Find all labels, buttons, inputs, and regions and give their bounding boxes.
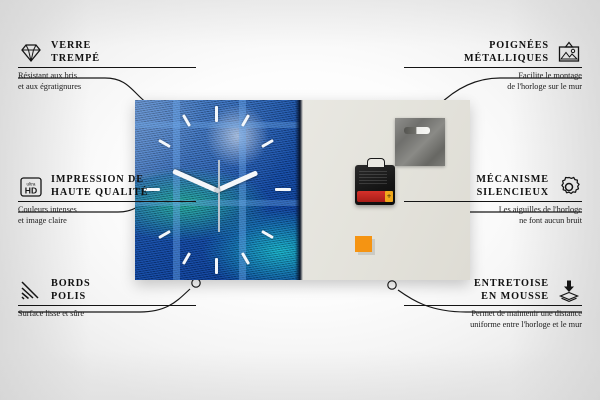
- hour-tick: [215, 258, 218, 274]
- callout-description: Permet de maintenir une distance uniform…: [404, 309, 582, 330]
- callout-rule: [404, 305, 582, 306]
- hour-tick: [158, 230, 171, 239]
- callout-header: VERRE TREMPÉ: [18, 40, 196, 65]
- callout-header: ENTRETOISE EN MOUSSE: [404, 278, 582, 303]
- hour-tick: [275, 188, 291, 191]
- callout-rule: [18, 305, 196, 306]
- gear-icon: [556, 175, 582, 199]
- callout-entretoise-en-mousse: ENTRETOISE EN MOUSSE Permet de maintenir…: [404, 278, 582, 331]
- movement-label: [359, 171, 387, 185]
- callout-title: IMPRESSION DE HAUTE QUALITÉ: [51, 174, 148, 199]
- glass-glare: [135, 100, 246, 184]
- movement-hanging-tab: [367, 158, 385, 167]
- callout-description: Surface lisse et sûre: [18, 309, 196, 320]
- callout-rule: [404, 201, 582, 202]
- second-hand: [218, 160, 220, 232]
- hour-tick: [261, 139, 274, 148]
- callout-title: BORDS POLIS: [51, 278, 91, 303]
- callout-rule: [404, 67, 582, 68]
- quartz-movement: +: [355, 165, 395, 205]
- callout-header: BORDS POLIS: [18, 278, 196, 303]
- callout-description: Facilite le montage de l'horloge sur le …: [404, 71, 582, 92]
- svg-text:HD: HD: [25, 185, 37, 195]
- pattern-line: [135, 122, 300, 128]
- metal-hanger-plate: [395, 118, 445, 166]
- hour-hand: [216, 170, 258, 192]
- callout-title: ENTRETOISE EN MOUSSE: [474, 278, 549, 303]
- callout-title: VERRE TREMPÉ: [51, 40, 100, 65]
- diamond-icon: [18, 41, 44, 65]
- callout-impression-haute-qualite: ultra HD IMPRESSION DE HAUTE QUALITÉ Cou…: [18, 174, 196, 227]
- polished-edge-icon: [18, 279, 44, 303]
- callout-rule: [18, 67, 196, 68]
- callout-title: POIGNÉES MÉTALLIQUES: [464, 40, 549, 65]
- callout-header: POIGNÉES MÉTALLIQUES: [404, 40, 582, 65]
- press-down-layers-icon: [556, 279, 582, 303]
- picture-frame-hook-icon: [556, 41, 582, 65]
- battery-plus-terminal: +: [385, 191, 393, 202]
- callout-header: MÉCANISME SILENCIEUX: [404, 174, 582, 199]
- callout-description: Couleurs intenses et image claire: [18, 205, 196, 226]
- connector-dot-entretoise: [388, 281, 396, 289]
- callout-description: Les aiguilles de l'horloge ne font aucun…: [404, 205, 582, 226]
- callout-bords-polis: BORDS POLIS Surface lisse et sûre: [18, 278, 196, 320]
- hour-tick: [215, 106, 218, 122]
- hanger-keyhole-slot: [404, 127, 430, 134]
- callout-rule: [18, 201, 196, 202]
- infographic-canvas: + VERRE TREMPÉ Résistant aux bris et aux…: [0, 0, 600, 400]
- foam-spacer: [355, 236, 372, 252]
- callout-title: MÉCANISME SILENCIEUX: [476, 174, 549, 199]
- ultra-hd-icon: ultra HD: [18, 175, 44, 199]
- callout-mecanisme-silencieux: MÉCANISME SILENCIEUX Les aiguilles de l'…: [404, 174, 582, 227]
- hour-tick: [261, 230, 274, 239]
- callout-header: ultra HD IMPRESSION DE HAUTE QUALITÉ: [18, 174, 196, 199]
- callout-verre-trempe: VERRE TREMPÉ Résistant aux bris et aux é…: [18, 40, 196, 93]
- callout-poignees-metalliques: POIGNÉES MÉTALLIQUES Facilite le montage…: [404, 40, 582, 93]
- hour-tick: [182, 252, 191, 265]
- callout-description: Résistant aux bris et aux égratignures: [18, 71, 196, 92]
- center-pin: [215, 188, 220, 193]
- panel-seam: [300, 100, 303, 280]
